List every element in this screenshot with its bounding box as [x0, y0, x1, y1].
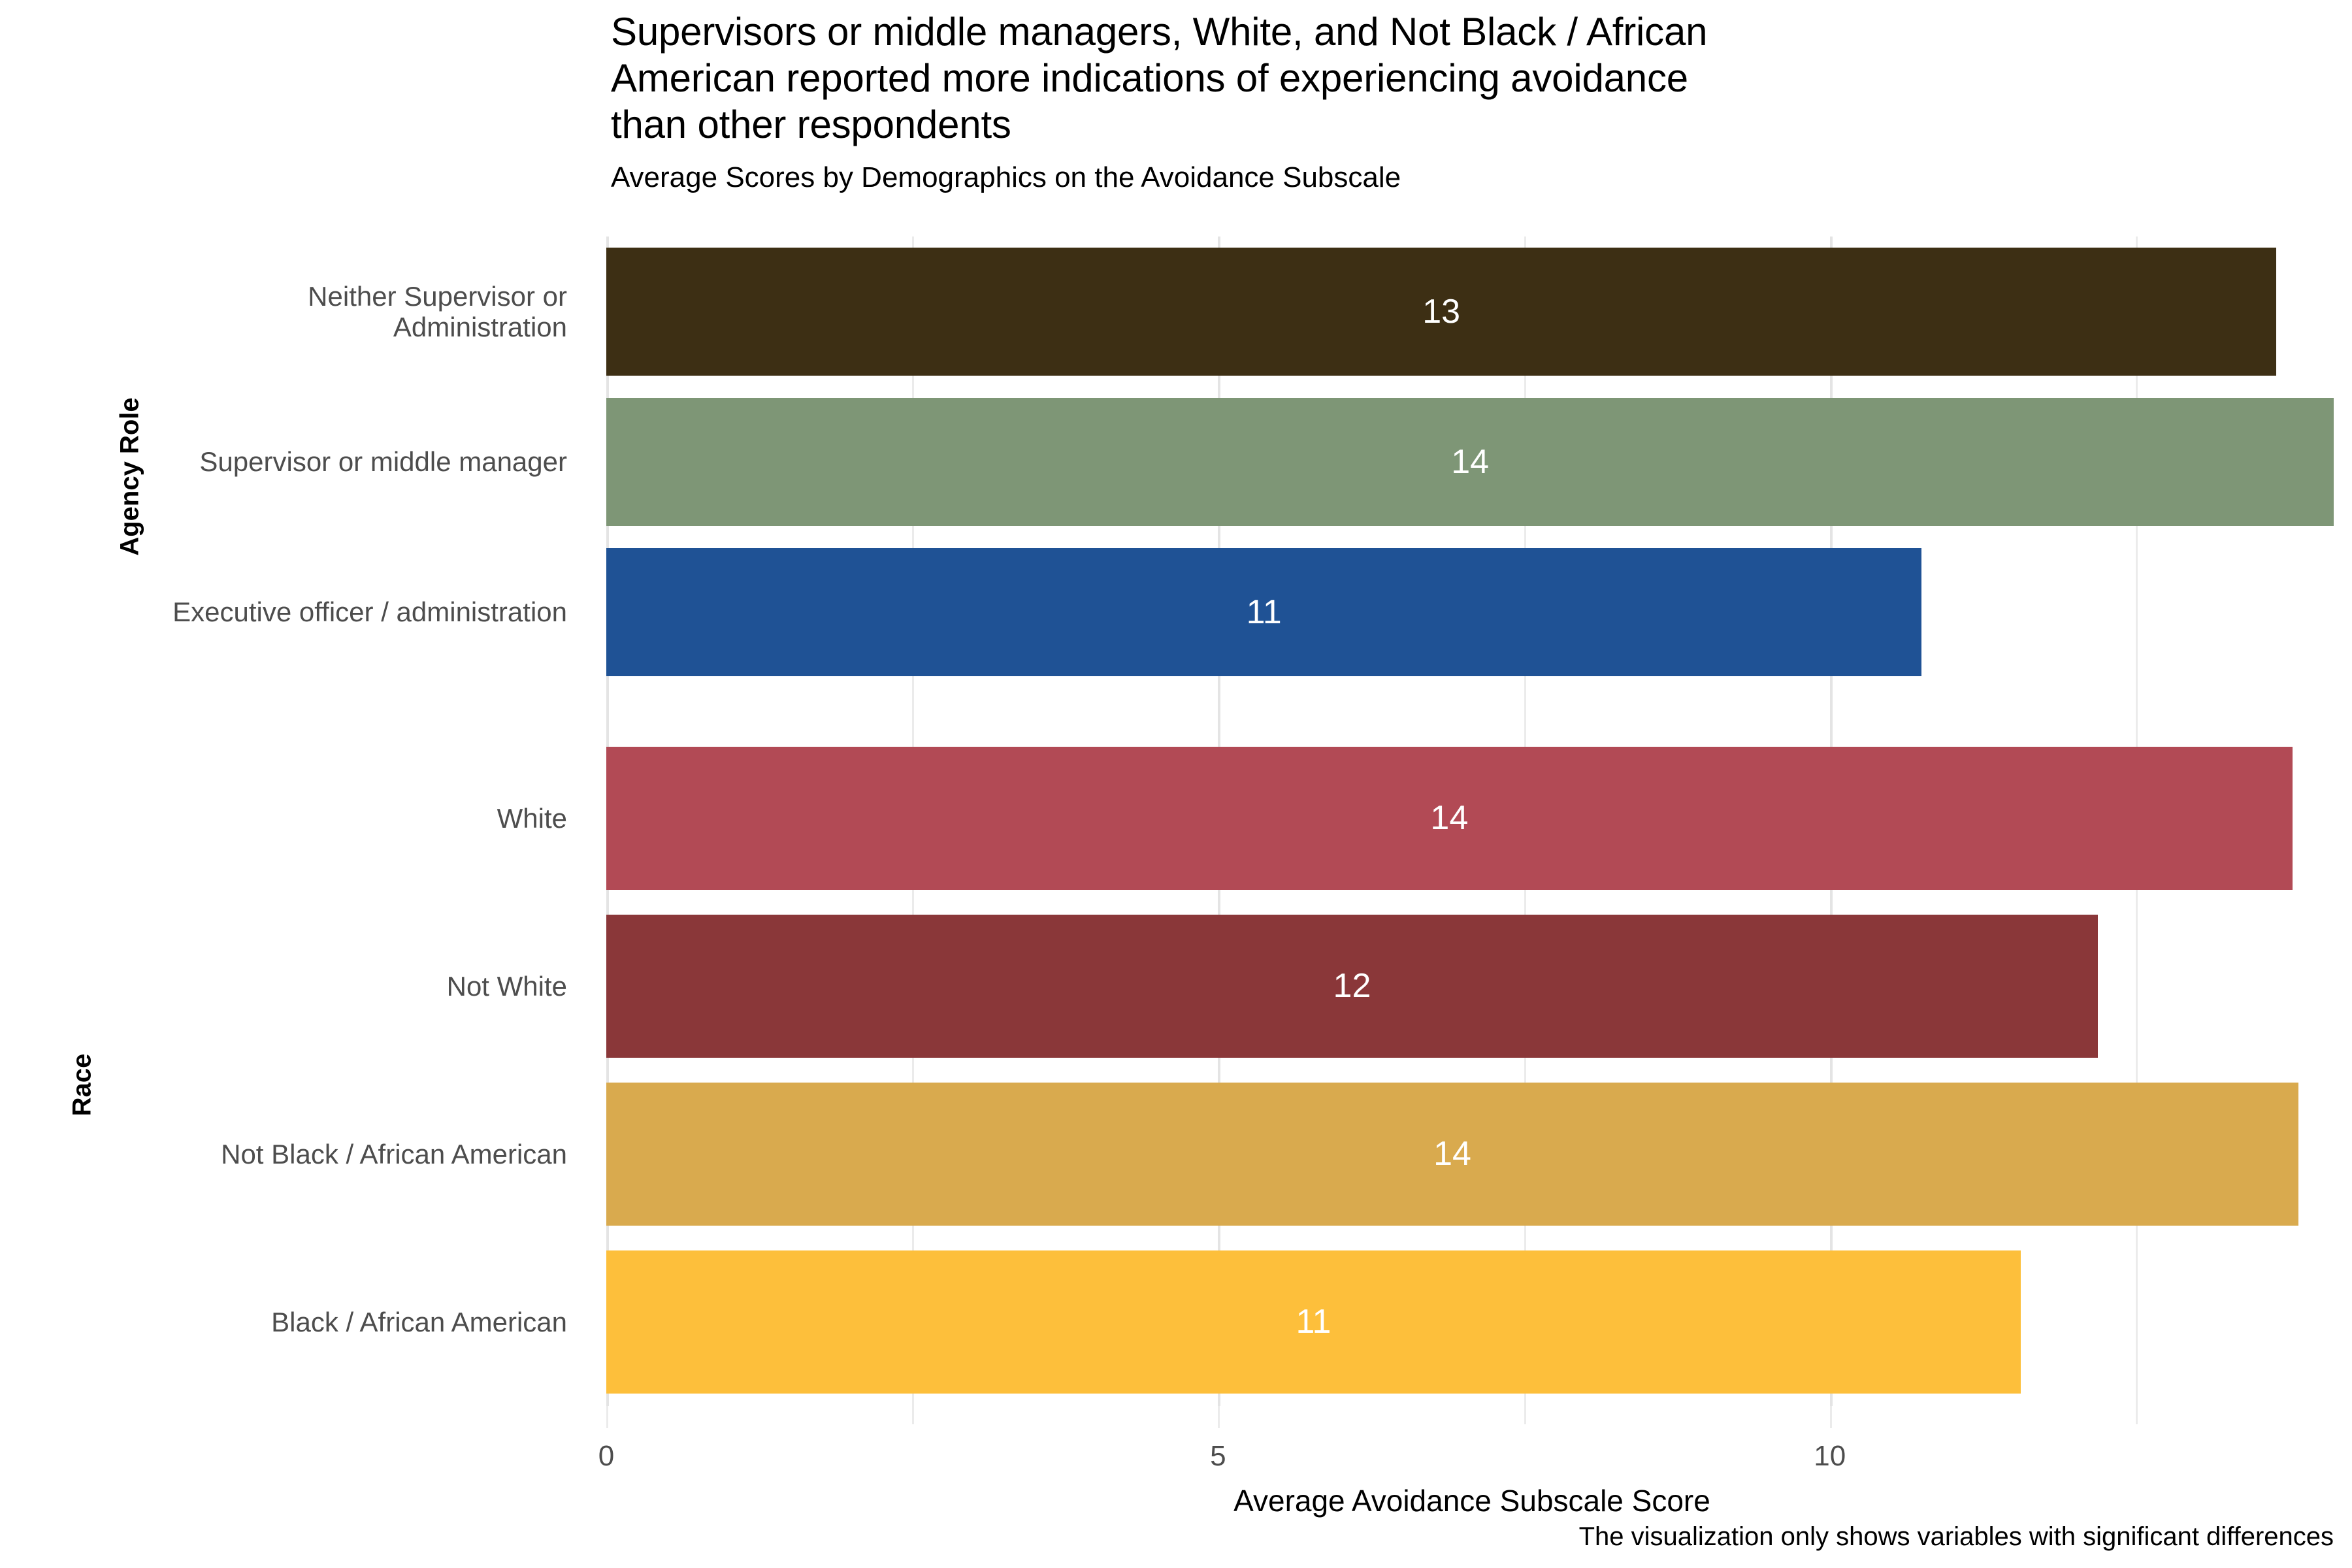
y-axis-tick-label: Black / African American: [271, 1250, 567, 1394]
bar[interactable]: 14: [606, 1083, 2298, 1226]
bar[interactable]: 14: [606, 747, 2293, 890]
y-axis-tick-label: Not Black / African American: [221, 1083, 567, 1226]
y-axis-tick-label: Neither Supervisor or Administration: [308, 248, 567, 376]
y-axis-tick-label: Not White: [447, 915, 567, 1058]
facet-title-agency-role: Agency Role: [116, 397, 145, 555]
y-axis-tick-label: Executive officer / administration: [172, 548, 567, 677]
footnote-caption: The visualization only shows variables w…: [1579, 1522, 2334, 1552]
bar-value-label: 11: [1247, 593, 1282, 632]
bar-value-label: 14: [1433, 1134, 1471, 1173]
bar-value-label: 13: [1422, 292, 1460, 331]
x-axis: 0510: [606, 1406, 2338, 1491]
x-axis-tick-mark: [1830, 1406, 1832, 1428]
plot-area: 131411 14121411: [606, 237, 2338, 1406]
bar-value-label: 14: [1451, 442, 1489, 482]
x-axis-tick-label: 5: [1210, 1440, 1226, 1473]
x-axis-minor-tick-mark: [1524, 1406, 1526, 1424]
x-axis-tick-label: 0: [598, 1440, 614, 1473]
facet-panel-race: 14121411: [606, 734, 2338, 1406]
page-title: Supervisors or middle managers, White, a…: [611, 9, 1983, 148]
bar-value-label: 14: [1430, 798, 1468, 838]
x-axis-minor-tick-mark: [912, 1406, 914, 1424]
page-subtitle: Average Scores by Demographics on the Av…: [611, 161, 1983, 195]
title-block: Supervisors or middle managers, White, a…: [611, 9, 1983, 195]
bar[interactable]: 12: [606, 915, 2098, 1058]
bar-value-label: 12: [1333, 966, 1371, 1005]
x-axis-tick-label: 10: [1814, 1440, 1846, 1473]
y-axis-tick-label: White: [497, 747, 567, 890]
facet-title-race: Race: [67, 1054, 97, 1117]
x-axis-minor-tick-mark: [2136, 1406, 2138, 1424]
x-axis-title: Average Avoidance Subscale Score: [606, 1483, 2338, 1518]
bar-value-label: 11: [1296, 1302, 1331, 1341]
chart-root: Supervisors or middle managers, White, a…: [0, 0, 2352, 1568]
x-axis-tick-mark: [606, 1406, 608, 1428]
bar[interactable]: 11: [606, 548, 1921, 677]
x-axis-tick-mark: [1218, 1406, 1220, 1428]
facet-panel-agency-role: 131411: [606, 237, 2338, 687]
y-axis-labels: Neither Supervisor or AdministrationSupe…: [0, 237, 587, 1406]
bar[interactable]: 14: [606, 398, 2334, 527]
bar[interactable]: 11: [606, 1250, 2021, 1394]
bar[interactable]: 13: [606, 248, 2276, 376]
y-axis-tick-label: Supervisor or middle manager: [199, 398, 567, 527]
